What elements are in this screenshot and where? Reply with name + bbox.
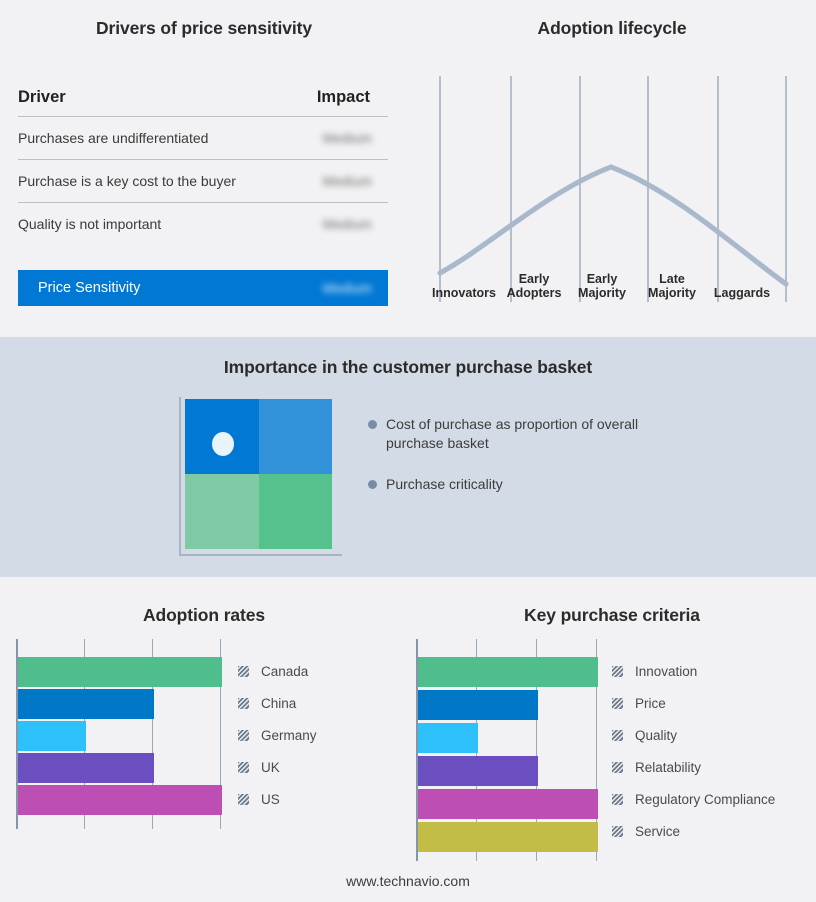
- adoption-lifecycle-title: Adoption lifecycle: [408, 18, 816, 39]
- legend-label: Canada: [261, 664, 308, 679]
- bar-quality[interactable]: [418, 723, 478, 753]
- table-row[interactable]: Quality is not important Medium: [18, 203, 388, 245]
- legend-label: Service: [635, 824, 680, 839]
- bar-us[interactable]: [18, 785, 222, 815]
- bar-innovation[interactable]: [418, 657, 598, 687]
- legend-swatch-icon: [238, 794, 249, 805]
- legend-item[interactable]: China: [238, 687, 317, 719]
- table-row[interactable]: Purchase is a key cost to the buyer Medi…: [18, 160, 388, 203]
- legend-item[interactable]: Purchase criticality: [368, 475, 668, 494]
- legend-bullet-icon: [368, 420, 377, 429]
- impact-value: Medium: [323, 174, 388, 189]
- legend-item[interactable]: Innovation: [612, 655, 775, 687]
- legend-swatch-icon: [612, 666, 623, 677]
- quadrant-top-right[interactable]: [259, 399, 333, 474]
- price-sensitivity-summary-banner[interactable]: Price Sensitivity Medium: [18, 270, 388, 306]
- legend-swatch-icon: [612, 762, 623, 773]
- quadrant-marker-dot: [212, 432, 234, 456]
- legend-swatch-icon: [612, 698, 623, 709]
- legend-item[interactable]: Price: [612, 687, 775, 719]
- legend-swatch-icon: [238, 666, 249, 677]
- key-purchase-criteria-title: Key purchase criteria: [408, 605, 816, 626]
- legend-swatch-icon: [612, 730, 623, 741]
- bar-uk[interactable]: [18, 753, 154, 783]
- driver-label: Quality is not important: [18, 216, 161, 232]
- purchase-basket-title: Importance in the customer purchase bask…: [0, 357, 816, 378]
- impact-value: Medium: [323, 131, 388, 146]
- quadrant-chart: [185, 399, 332, 549]
- legend-swatch-icon: [238, 730, 249, 741]
- legend-item[interactable]: Quality: [612, 719, 775, 751]
- legend-item[interactable]: Canada: [238, 655, 317, 687]
- adoption-rates-panel: Adoption rates Canada China Germany UK: [0, 577, 408, 902]
- impact-value: Medium: [323, 217, 388, 232]
- legend-item[interactable]: Service: [612, 815, 775, 847]
- legend-item[interactable]: UK: [238, 751, 317, 783]
- legend-label: Price: [635, 696, 666, 711]
- lifecycle-stage-laggards: Laggards: [710, 286, 774, 300]
- legend-label: Germany: [261, 728, 317, 743]
- driver-label: Purchases are undifferentiated: [18, 130, 208, 146]
- purchase-basket-panel: Importance in the customer purchase bask…: [0, 337, 816, 577]
- key-purchase-criteria-legend: Innovation Price Quality Relatability Re…: [612, 655, 775, 847]
- quadrant-y-axis: [179, 397, 181, 554]
- legend-label: Relatability: [635, 760, 701, 775]
- legend-label: UK: [261, 760, 280, 775]
- adoption-rates-title: Adoption rates: [0, 605, 408, 626]
- legend-label: China: [261, 696, 296, 711]
- legend-label: Quality: [635, 728, 677, 743]
- footer-url[interactable]: www.technavio.com: [0, 873, 816, 889]
- legend-label: Purchase criticality: [386, 475, 503, 494]
- quadrant-bottom-left[interactable]: [185, 474, 259, 549]
- bar-germany[interactable]: [18, 721, 86, 751]
- key-purchase-criteria-panel: Key purchase criteria Innovation Price Q…: [408, 577, 816, 902]
- legend-item[interactable]: US: [238, 783, 317, 815]
- drivers-panel: Drivers of price sensitivity Driver Impa…: [0, 0, 408, 337]
- quadrant-top-left[interactable]: [185, 399, 259, 474]
- legend-label: Cost of purchase as proportion of overal…: [386, 415, 646, 453]
- drivers-title: Drivers of price sensitivity: [0, 18, 408, 39]
- bar-china[interactable]: [18, 689, 154, 719]
- legend-bullet-icon: [368, 480, 377, 489]
- legend-item[interactable]: Relatability: [612, 751, 775, 783]
- legend-item[interactable]: Cost of purchase as proportion of overal…: [368, 415, 668, 453]
- table-header-row: Driver Impact: [18, 88, 388, 117]
- legend-swatch-icon: [612, 794, 623, 805]
- legend-label: US: [261, 792, 280, 807]
- legend-label: Regulatory Compliance: [635, 792, 775, 807]
- adoption-rates-chart: [16, 639, 222, 829]
- lifecycle-stage-innovators: Innovators: [428, 286, 500, 300]
- table-row[interactable]: Purchases are undifferentiated Medium: [18, 117, 388, 160]
- lifecycle-stage-early-adopters: Early Adopters: [503, 272, 565, 300]
- column-header-impact: Impact: [317, 88, 388, 107]
- quadrant-x-axis: [179, 554, 342, 556]
- legend-item[interactable]: Germany: [238, 719, 317, 751]
- lifecycle-stage-early-majority: Early Majority: [571, 272, 633, 300]
- legend-item[interactable]: Regulatory Compliance: [612, 783, 775, 815]
- key-purchase-criteria-chart: [416, 639, 598, 861]
- column-header-driver: Driver: [18, 88, 66, 107]
- legend-swatch-icon: [238, 698, 249, 709]
- legend-swatch-icon: [238, 762, 249, 773]
- price-sensitivity-label: Price Sensitivity: [38, 280, 140, 296]
- bar-service[interactable]: [418, 822, 598, 852]
- legend-swatch-icon: [612, 826, 623, 837]
- legend-label: Innovation: [635, 664, 697, 679]
- price-sensitivity-impact-value: Medium: [323, 281, 388, 296]
- adoption-lifecycle-panel: Adoption lifecycle Innovators Early Adop…: [408, 0, 816, 337]
- bar-canada[interactable]: [18, 657, 222, 687]
- driver-label: Purchase is a key cost to the buyer: [18, 173, 236, 189]
- lifecycle-stage-late-majority: Late Majority: [642, 272, 702, 300]
- adoption-rates-legend: Canada China Germany UK US: [238, 655, 317, 815]
- quadrant-bottom-right[interactable]: [259, 474, 333, 549]
- bar-regulatory-compliance[interactable]: [418, 789, 598, 819]
- bar-price[interactable]: [418, 690, 538, 720]
- purchase-basket-legend: Cost of purchase as proportion of overal…: [368, 415, 668, 516]
- bar-relatability[interactable]: [418, 756, 538, 786]
- drivers-table: Driver Impact Purchases are undifferenti…: [18, 88, 388, 245]
